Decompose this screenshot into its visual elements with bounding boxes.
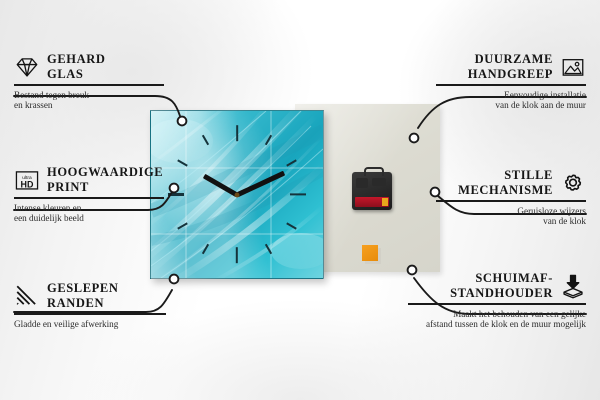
feature-title: SCHUIMAF- STANDHOUDER	[450, 271, 553, 300]
feature-description: Geruisloze wijzers van de klok	[436, 206, 586, 227]
feature-description: Eenvoudige installatie van de klok aan d…	[436, 90, 586, 111]
feature-head: GESLEPEN RANDEN	[14, 281, 166, 310]
ultra-hd-icon-main-label: HD	[21, 179, 34, 189]
feature-head: ultra HD HOOGWAARDIGE PRINT	[14, 165, 164, 194]
feature-desc-line1: Eenvoudige installatie	[436, 90, 586, 101]
feature-description: Intense kleuren en een duidelijk beeld	[14, 203, 164, 224]
gear-icon	[560, 170, 586, 196]
clock-center-hub	[235, 192, 240, 197]
feature-desc-line2: afstand tussen de klok en de muur mogeli…	[408, 319, 586, 330]
feature-divider	[436, 84, 586, 86]
foam-spacer-pad	[362, 245, 378, 261]
mechanism-detail-left	[356, 178, 368, 188]
feature-title: STILLE MECHANISME	[458, 168, 553, 197]
feature-title: GEHARD GLAS	[47, 52, 105, 81]
clock-tick	[290, 193, 306, 195]
feature-title-line1: DUURZAME	[468, 52, 553, 67]
clock-mechanism	[352, 172, 392, 210]
clock-tick	[168, 193, 184, 195]
feature-desc-line1: Gladde en veilige afwerking	[14, 319, 166, 330]
feature-title: HOOGWAARDIGE PRINT	[47, 165, 163, 194]
feature-title-line2: RANDEN	[47, 296, 119, 311]
mechanism-battery	[355, 197, 389, 207]
feature-divider	[436, 200, 586, 202]
mechanism-hanger	[364, 167, 384, 176]
clock-tick	[236, 125, 238, 141]
glass-seam-vertical-left	[185, 111, 187, 278]
feature-title-line2: MECHANISME	[458, 183, 553, 198]
feature-divider	[408, 303, 586, 305]
glass-seam-horizontal-bottom	[151, 233, 323, 235]
feature-schuimaf-standhouder[interactable]: SCHUIMAF- STANDHOUDER Maakt het behouden…	[408, 271, 586, 330]
feature-head: DUURZAME HANDGREEP	[436, 52, 586, 81]
feature-desc-line1: Bestand tegen breuk	[14, 90, 164, 101]
feature-title-line1: STILLE	[458, 168, 553, 183]
clock-product-image	[150, 110, 324, 279]
feature-description: Maakt het behouden van een gelijke afsta…	[408, 309, 586, 330]
feature-description: Bestand tegen breuk en krassen	[14, 90, 164, 111]
diamond-icon	[14, 54, 40, 80]
ultra-hd-icon: ultra HD	[14, 167, 40, 193]
feature-title-line1: HOOGWAARDIGE	[47, 165, 163, 180]
feature-duurzame-handgreep[interactable]: DUURZAME HANDGREEP Eenvoudige installati…	[436, 52, 586, 111]
feature-description: Gladde en veilige afwerking	[14, 319, 166, 330]
glass-seam-horizontal-top	[151, 167, 323, 169]
feature-desc-line1: Maakt het behouden van een gelijke	[408, 309, 586, 320]
picture-frame-icon	[560, 54, 586, 80]
infographic-canvas: GEHARD GLAS Bestand tegen breuk en krass…	[0, 0, 600, 400]
feature-title-line1: GESLEPEN	[47, 281, 119, 296]
feature-desc-line2: van de klok aan de muur	[436, 100, 586, 111]
feature-divider	[14, 197, 164, 199]
press-down-pad-icon	[560, 273, 586, 299]
feature-head: GEHARD GLAS	[14, 52, 164, 81]
feature-title-line2: PRINT	[47, 180, 163, 195]
feature-geslepen-randen[interactable]: GESLEPEN RANDEN Gladde en veilige afwerk…	[14, 281, 166, 329]
feature-desc-line1: Geruisloze wijzers	[436, 206, 586, 217]
feature-hoogwaardige-print[interactable]: ultra HD HOOGWAARDIGE PRINT Intense kleu…	[14, 165, 164, 224]
feature-desc-line2: van de klok	[436, 216, 586, 227]
feature-divider	[14, 313, 166, 315]
feature-stille-mechanisme[interactable]: STILLE MECHANISME Geruisloze wijzers van…	[436, 168, 586, 227]
feature-title: DUURZAME HANDGREEP	[468, 52, 553, 81]
feature-gehard-glas[interactable]: GEHARD GLAS Bestand tegen breuk en krass…	[14, 52, 164, 111]
feature-title-line2: HANDGREEP	[468, 67, 553, 82]
mechanism-detail-right	[372, 178, 386, 186]
feature-desc-line2: en krassen	[14, 100, 164, 111]
feature-desc-line1: Intense kleuren en	[14, 203, 164, 214]
clock-tick	[236, 247, 238, 263]
feature-title-line2: STANDHOUDER	[450, 286, 553, 301]
feature-title-line1: GEHARD	[47, 52, 105, 67]
feature-divider	[14, 84, 164, 86]
feature-title-line2: GLAS	[47, 67, 105, 82]
feature-head: STILLE MECHANISME	[436, 168, 586, 197]
feature-title-line1: SCHUIMAF-	[450, 271, 553, 286]
feature-title: GESLEPEN RANDEN	[47, 281, 119, 310]
feature-desc-line2: een duidelijk beeld	[14, 213, 164, 224]
beveled-edge-icon	[14, 283, 40, 309]
feature-head: SCHUIMAF- STANDHOUDER	[408, 271, 586, 300]
